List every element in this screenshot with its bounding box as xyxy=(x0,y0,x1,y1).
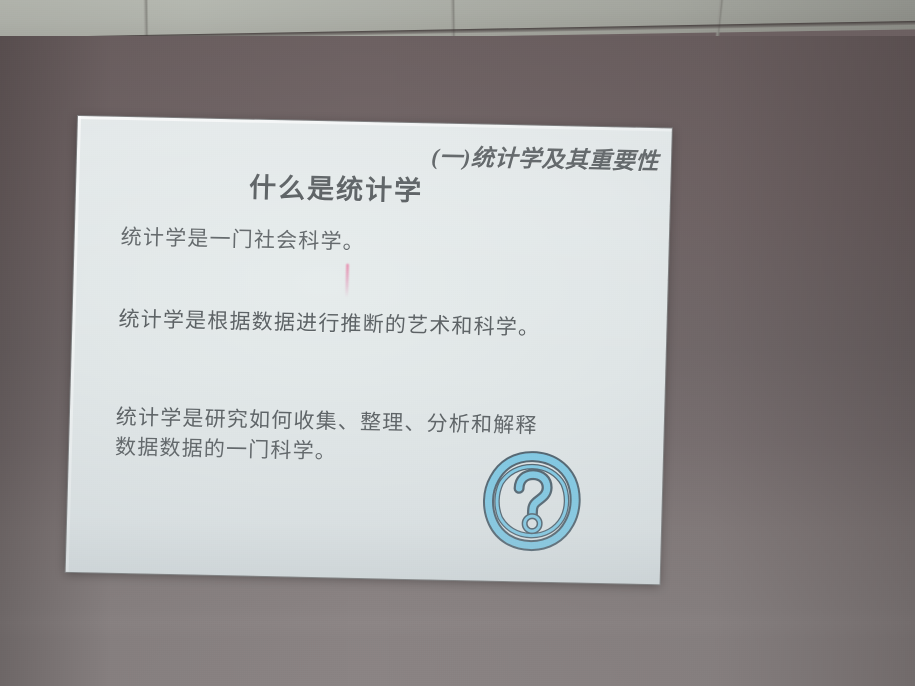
slide-paragraph-1: 统计学是一门社会科学。 xyxy=(120,223,647,264)
projected-slide: (一)统计学及其重要性 什么是统计学 统计学是一门社会科学。 统计学是根据数据进… xyxy=(66,116,672,584)
photo-scene: (一)统计学及其重要性 什么是统计学 统计学是一门社会科学。 统计学是根据数据进… xyxy=(0,0,915,686)
slide-content: (一)统计学及其重要性 什么是统计学 统计学是一门社会科学。 统计学是根据数据进… xyxy=(66,116,672,584)
question-mark-icon xyxy=(478,449,585,555)
wall-seam xyxy=(0,608,915,638)
projection-screen: (一)统计学及其重要性 什么是统计学 统计学是一门社会科学。 统计学是根据数据进… xyxy=(66,116,672,584)
ceiling-grid-line xyxy=(450,0,456,41)
laser-pointer-trace xyxy=(345,264,349,298)
slide-paragraph-2: 统计学是根据数据进行推断的艺术和科学。 xyxy=(118,305,645,346)
paragraph-line: 统计学是一门社会科学。 xyxy=(120,223,647,264)
paragraph-line: 统计学是根据数据进行推断的艺术和科学。 xyxy=(118,305,645,346)
